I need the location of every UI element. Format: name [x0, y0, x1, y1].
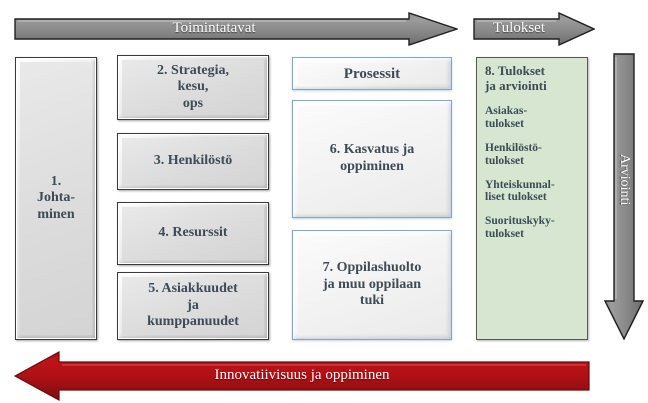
box-prosessit-header-label: Prosessit [338, 65, 406, 83]
box-oppilashuolto-label: 7. Oppilashuolto ja muu oppilaan tuki [317, 260, 428, 310]
box-henkilosto-label: 3. Henkilöstö [150, 153, 237, 170]
box-prosessit-header[interactable]: Prosessit [292, 57, 452, 90]
box-kasvatus-label: 6. Kasvatus ja oppiminen [324, 142, 420, 176]
box-henkilosto[interactable]: 3. Henkilöstö [117, 133, 269, 190]
arrow-toimintatavat [14, 12, 458, 46]
arrow-tulokset [473, 12, 595, 46]
results-item-suorituskykytulokset: Suorituskyky- tulokset [485, 215, 579, 241]
box-resurssit-label: 4. Resurssit [154, 225, 231, 242]
box-johtaminen[interactable]: 1. Johta- minen [15, 57, 97, 340]
results-item-henkilostotulokset: Henkilöstö- tulokset [485, 142, 579, 168]
arrow-arviointi [604, 53, 644, 340]
box-oppilashuolto[interactable]: 7. Oppilashuolto ja muu oppilaan tuki [292, 230, 452, 340]
results-item-yhteiskunnalliset-tulokset: Yhteiskunnal- liset tulokset [485, 179, 579, 205]
box-johtaminen-label: 1. Johta- minen [33, 174, 79, 224]
box-strategia-label: 2. Strategia, kesu, ops [153, 63, 233, 113]
box-strategia[interactable]: 2. Strategia, kesu, ops [117, 55, 269, 120]
results-header: 8. Tulokset ja arviointi [485, 64, 579, 93]
results-item-asiakastulokset: Asiakas- tulokset [485, 105, 579, 131]
diagram-canvas: Toimintatavat Tulokset 1. Johta- minen [0, 0, 648, 403]
box-asiakkuudet-label: 5. Asiakkuudet ja kumppanuudet [143, 281, 243, 331]
box-tulokset-arviointi[interactable]: 8. Tulokset ja arviointi Asiakas- tuloks… [476, 57, 588, 340]
box-kasvatus[interactable]: 6. Kasvatus ja oppiminen [292, 100, 452, 218]
box-resurssit[interactable]: 4. Resurssit [117, 202, 269, 265]
box-asiakkuudet[interactable]: 5. Asiakkuudet ja kumppanuudet [117, 272, 269, 340]
arrow-innovatiivisuus [14, 351, 590, 401]
